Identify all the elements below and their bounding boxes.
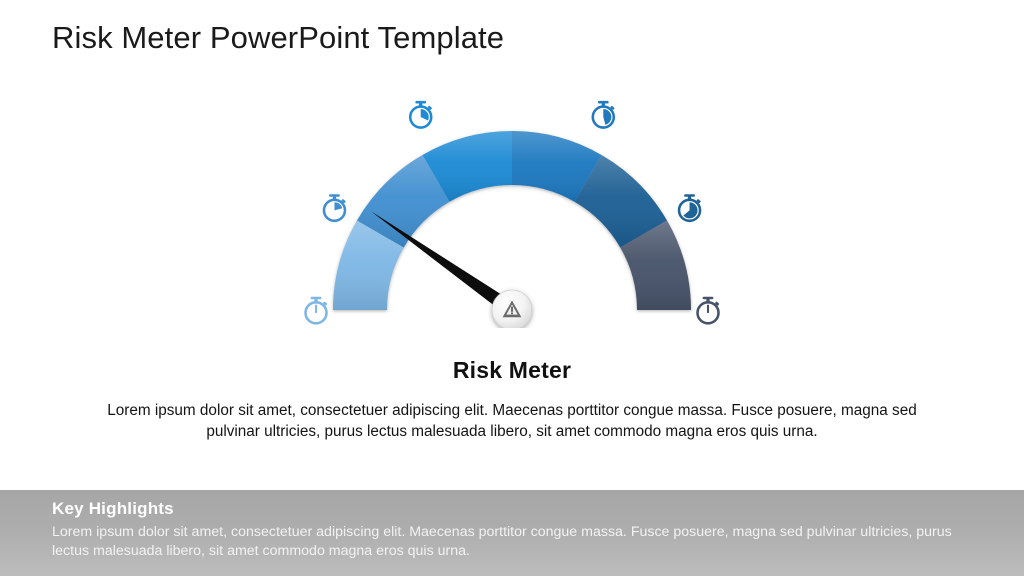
stopwatch-icon-0 bbox=[306, 297, 328, 324]
key-highlights-bar: Key Highlights Lorem ipsum dolor sit ame… bbox=[0, 490, 1024, 576]
gauge-heading: Risk Meter bbox=[0, 357, 1024, 384]
gauge-body-text: Lorem ipsum dolor sit amet, consectetuer… bbox=[88, 400, 936, 442]
footer-body-text: Lorem ipsum dolor sit amet, consectetuer… bbox=[52, 523, 957, 561]
page-title: Risk Meter PowerPoint Template bbox=[52, 20, 504, 56]
gauge-hub bbox=[492, 290, 532, 328]
stopwatch-icon-5 bbox=[698, 297, 720, 324]
stopwatch-icon-4 bbox=[679, 194, 701, 221]
stopwatch-icon-3 bbox=[593, 101, 615, 128]
stopwatch-icon-2 bbox=[410, 101, 432, 128]
slide-canvas: Risk Meter PowerPoint Template bbox=[0, 0, 1024, 576]
footer-title: Key Highlights bbox=[52, 499, 174, 519]
stopwatch-icon-1 bbox=[324, 194, 346, 221]
gauge-svg bbox=[282, 78, 742, 328]
risk-meter-gauge bbox=[282, 78, 742, 328]
gauge-arc-sheen bbox=[333, 131, 691, 310]
